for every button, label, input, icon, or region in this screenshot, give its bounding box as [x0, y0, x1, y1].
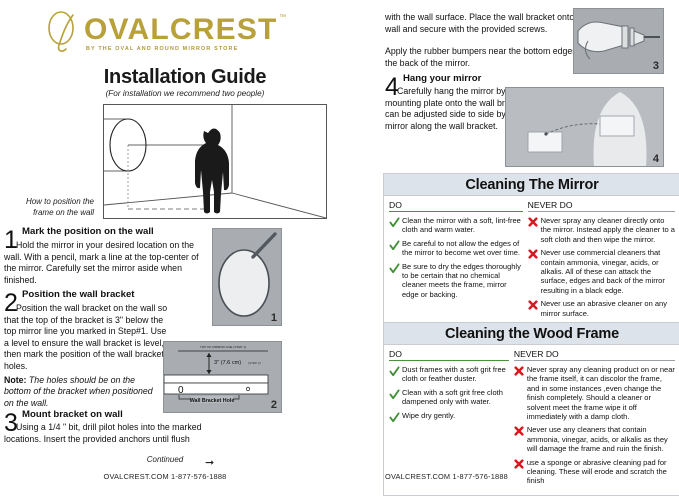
room-perspective-illustration	[104, 105, 326, 218]
list-item-text: Dust frames with a soft grit free cloth …	[402, 365, 509, 384]
right-column: with the wall surface. Place the wall br…	[383, 0, 679, 489]
list-item: Wipe dry gently.	[389, 411, 509, 423]
cross-icon	[528, 299, 541, 318]
panel-cleaning-the-mirror: Cleaning The Mirror DO Clean the mirror …	[383, 173, 679, 328]
check-icon	[389, 216, 402, 235]
panel-1-do-column: DO Clean the mirror with a soft, lint-fr…	[389, 200, 528, 322]
step-3-number: 3	[4, 411, 18, 436]
list-item-text: Clean the mirror with a soft, lint-free …	[402, 216, 523, 235]
svg-text:(STEP 2): (STEP 2)	[248, 361, 261, 365]
list-item-text: Never spray any cleaning product on or n…	[527, 365, 675, 421]
page-subtitle: (For installation we recommend two peopl…	[0, 89, 370, 98]
panel-cleaning-the-wood-frame: Cleaning the Wood Frame DO Dust frames w…	[383, 322, 679, 496]
step-4-heading: Hang your mirror	[403, 73, 590, 84]
continued-paragraph-2: Apply the rubber bumpers near the bottom…	[385, 46, 590, 69]
list-item: use a sponge or abrasive cleaning pad fo…	[514, 458, 675, 486]
photo-number-1: 1	[271, 312, 277, 324]
step-2-number: 2	[4, 291, 18, 316]
mounting-plate-illustration	[506, 88, 663, 166]
mirror-pencil-illustration	[213, 229, 281, 325]
brand-name: OVALCREST	[84, 13, 278, 47]
room-diagram-caption: How to position theframe on the wall	[6, 196, 94, 218]
installation-guide-page: OVALCREST ™ BY THE OVAL AND ROUND MIRROR…	[0, 0, 679, 489]
divider	[389, 360, 509, 361]
left-column: OVALCREST ™ BY THE OVAL AND ROUND MIRROR…	[0, 0, 370, 489]
photo-number-2: 2	[271, 399, 277, 411]
photo-mirror-marking: 1	[212, 228, 282, 326]
wall-bracket-measurement-illustration: TOP OF MIRROR LINE (STEP 1) 3" (7.6 cm) …	[164, 342, 281, 412]
footer-left: OVALCREST.COM 1-877-576-1888	[0, 472, 330, 481]
list-item: Never use an abrasive cleaner on any mir…	[528, 299, 675, 318]
note-label: Note:	[4, 375, 26, 385]
svg-text:0: 0	[178, 385, 184, 396]
list-item-text: Never use an abrasive cleaner on any mir…	[541, 299, 675, 318]
list-item: Never spray any cleaning product on or n…	[514, 365, 675, 421]
photo-hang-mirror: 4	[505, 87, 664, 167]
room-diagram	[103, 104, 327, 219]
list-item: Be careful to not allow the edges of the…	[389, 239, 523, 258]
svg-text:TOP OF MIRROR LINE (STEP 1): TOP OF MIRROR LINE (STEP 1)	[200, 345, 246, 349]
step-1-heading: Mark the position on the wall	[22, 226, 204, 237]
step-3-body: Using a 1/4 " bit, drill pilot holes int…	[4, 422, 212, 445]
list-item-text: Be careful to not allow the edges of the…	[402, 239, 523, 258]
panel-2-title: Cleaning the Wood Frame	[445, 326, 619, 342]
svg-text:Wall Bracket Hole: Wall Bracket Hole	[190, 398, 235, 404]
photo-number-4: 4	[653, 153, 659, 165]
divider	[514, 360, 675, 361]
cross-icon	[514, 365, 527, 421]
step-2-heading: Position the wall bracket	[22, 289, 204, 300]
cross-icon	[528, 248, 541, 295]
panel-1-header: Cleaning The Mirror	[384, 174, 679, 196]
step-4-number: 4	[385, 75, 399, 100]
step-2-body: Position the wall bracket on the wall so…	[4, 303, 172, 373]
continued-arrow-icon: ➞	[205, 456, 214, 469]
check-icon	[389, 365, 402, 384]
list-item-text: Wipe dry gently.	[402, 411, 455, 423]
note-text: The holes should be on the bottom of the…	[4, 375, 153, 408]
panel-2-do-column: DO Dust frames with a soft grit free clo…	[389, 349, 514, 490]
list-item: Clean the mirror with a soft, lint-free …	[389, 216, 523, 235]
footer-right: OVALCREST.COM 1-877-576-1888	[385, 472, 508, 481]
list-item: Be sure to dry the edges thoroughly to b…	[389, 262, 523, 300]
oval-swirl-icon	[42, 8, 88, 54]
divider	[528, 211, 675, 212]
photo-number-3: 3	[653, 60, 659, 72]
check-icon	[389, 262, 402, 300]
list-item-text: use a sponge or abrasive cleaning pad fo…	[527, 458, 675, 486]
panel-2-never-column: NEVER DO Never spray any cleaning produc…	[514, 349, 675, 490]
step-1: 1 Mark the position on the wall Hold the…	[4, 226, 204, 286]
list-item: Never spray any cleaner directly onto th…	[528, 216, 675, 244]
panel-1-title: Cleaning The Mirror	[465, 177, 598, 193]
step-3: 3 Mount bracket on wall Using a 1/4 " bi…	[4, 409, 214, 445]
list-item: Never use any cleaners that contain ammo…	[514, 425, 675, 453]
check-icon	[389, 239, 402, 258]
panel-1-never-label: NEVER DO	[528, 200, 675, 211]
list-item-text: Never spray any cleaner directly onto th…	[541, 216, 675, 244]
panel-1-do-label: DO	[389, 200, 523, 211]
list-item-text: Never use commercial cleaners that conta…	[541, 248, 675, 295]
photo-drill: 3	[573, 8, 664, 74]
svg-text:3" (7.6 cm): 3" (7.6 cm)	[214, 360, 241, 366]
check-icon	[389, 388, 402, 407]
cross-icon	[514, 425, 527, 453]
cross-icon	[528, 216, 541, 244]
list-item: Never use commercial cleaners that conta…	[528, 248, 675, 295]
panel-2-do-label: DO	[389, 349, 509, 360]
trademark-symbol: ™	[279, 14, 286, 21]
brand-logo: OVALCREST ™ BY THE OVAL AND ROUND MIRROR…	[42, 8, 332, 58]
photo-bracket-diagram: TOP OF MIRROR LINE (STEP 1) 3" (7.6 cm) …	[163, 341, 282, 413]
list-item: Clean with a soft grit free cloth dampen…	[389, 388, 509, 407]
cross-icon	[514, 458, 527, 486]
list-item: Dust frames with a soft grit free cloth …	[389, 365, 509, 384]
panel-1-never-column: NEVER DO Never spray any cleaner directl…	[528, 200, 675, 322]
brand-tagline: BY THE OVAL AND ROUND MIRROR STORE	[86, 46, 238, 52]
panel-2-header: Cleaning the Wood Frame	[384, 323, 679, 345]
continued-label: Continued	[0, 455, 330, 464]
list-item-text: Be sure to dry the edges thoroughly to b…	[402, 262, 523, 300]
drill-illustration	[574, 9, 663, 73]
continued-paragraph-1: with the wall surface. Place the wall br…	[385, 12, 590, 35]
step-1-body: Hold the mirror in your desired location…	[4, 240, 204, 286]
page-title: Installation Guide	[0, 66, 370, 89]
panel-1-columns: DO Clean the mirror with a soft, lint-fr…	[384, 196, 679, 327]
step-2-note: Note: The holes should be on the bottom …	[4, 375, 164, 410]
divider	[389, 211, 523, 212]
check-icon	[389, 411, 402, 423]
list-item-text: Clean with a soft grit free cloth dampen…	[402, 388, 509, 407]
panel-2-never-label: NEVER DO	[514, 349, 675, 360]
list-item-text: Never use any cleaners that contain ammo…	[527, 425, 675, 453]
step-1-number: 1	[4, 228, 18, 253]
